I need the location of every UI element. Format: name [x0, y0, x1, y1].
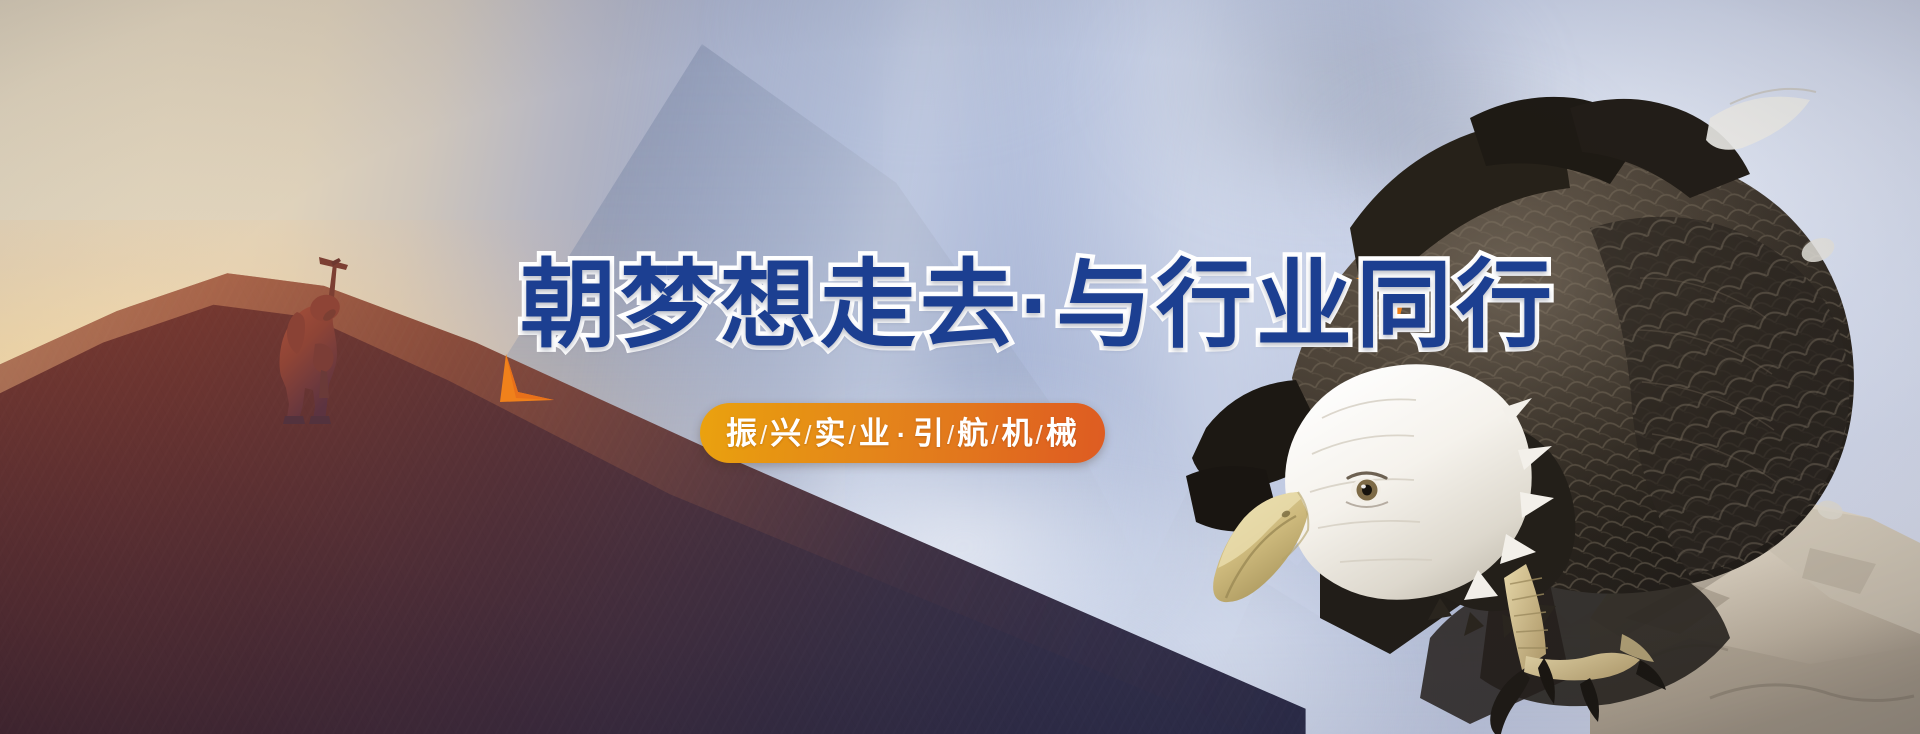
subtitle-text: 振/兴/实/业·引/航/机/械	[726, 418, 1079, 449]
climber-silhouette-icon	[253, 248, 385, 444]
corner-bracket-bottom-left-icon	[498, 352, 556, 404]
hero-banner: 朝梦想走去·与行业同行 振/兴/实/业·引/航/机/械	[0, 0, 1920, 734]
banner-text-block: 朝梦想走去·与行业同行 振/兴/实/业·引/航/机/械	[498, 252, 1438, 474]
page-title: 朝梦想走去·与行业同行	[520, 252, 1556, 360]
subtitle-badge: 振/兴/实/业·引/航/机/械	[700, 403, 1105, 463]
